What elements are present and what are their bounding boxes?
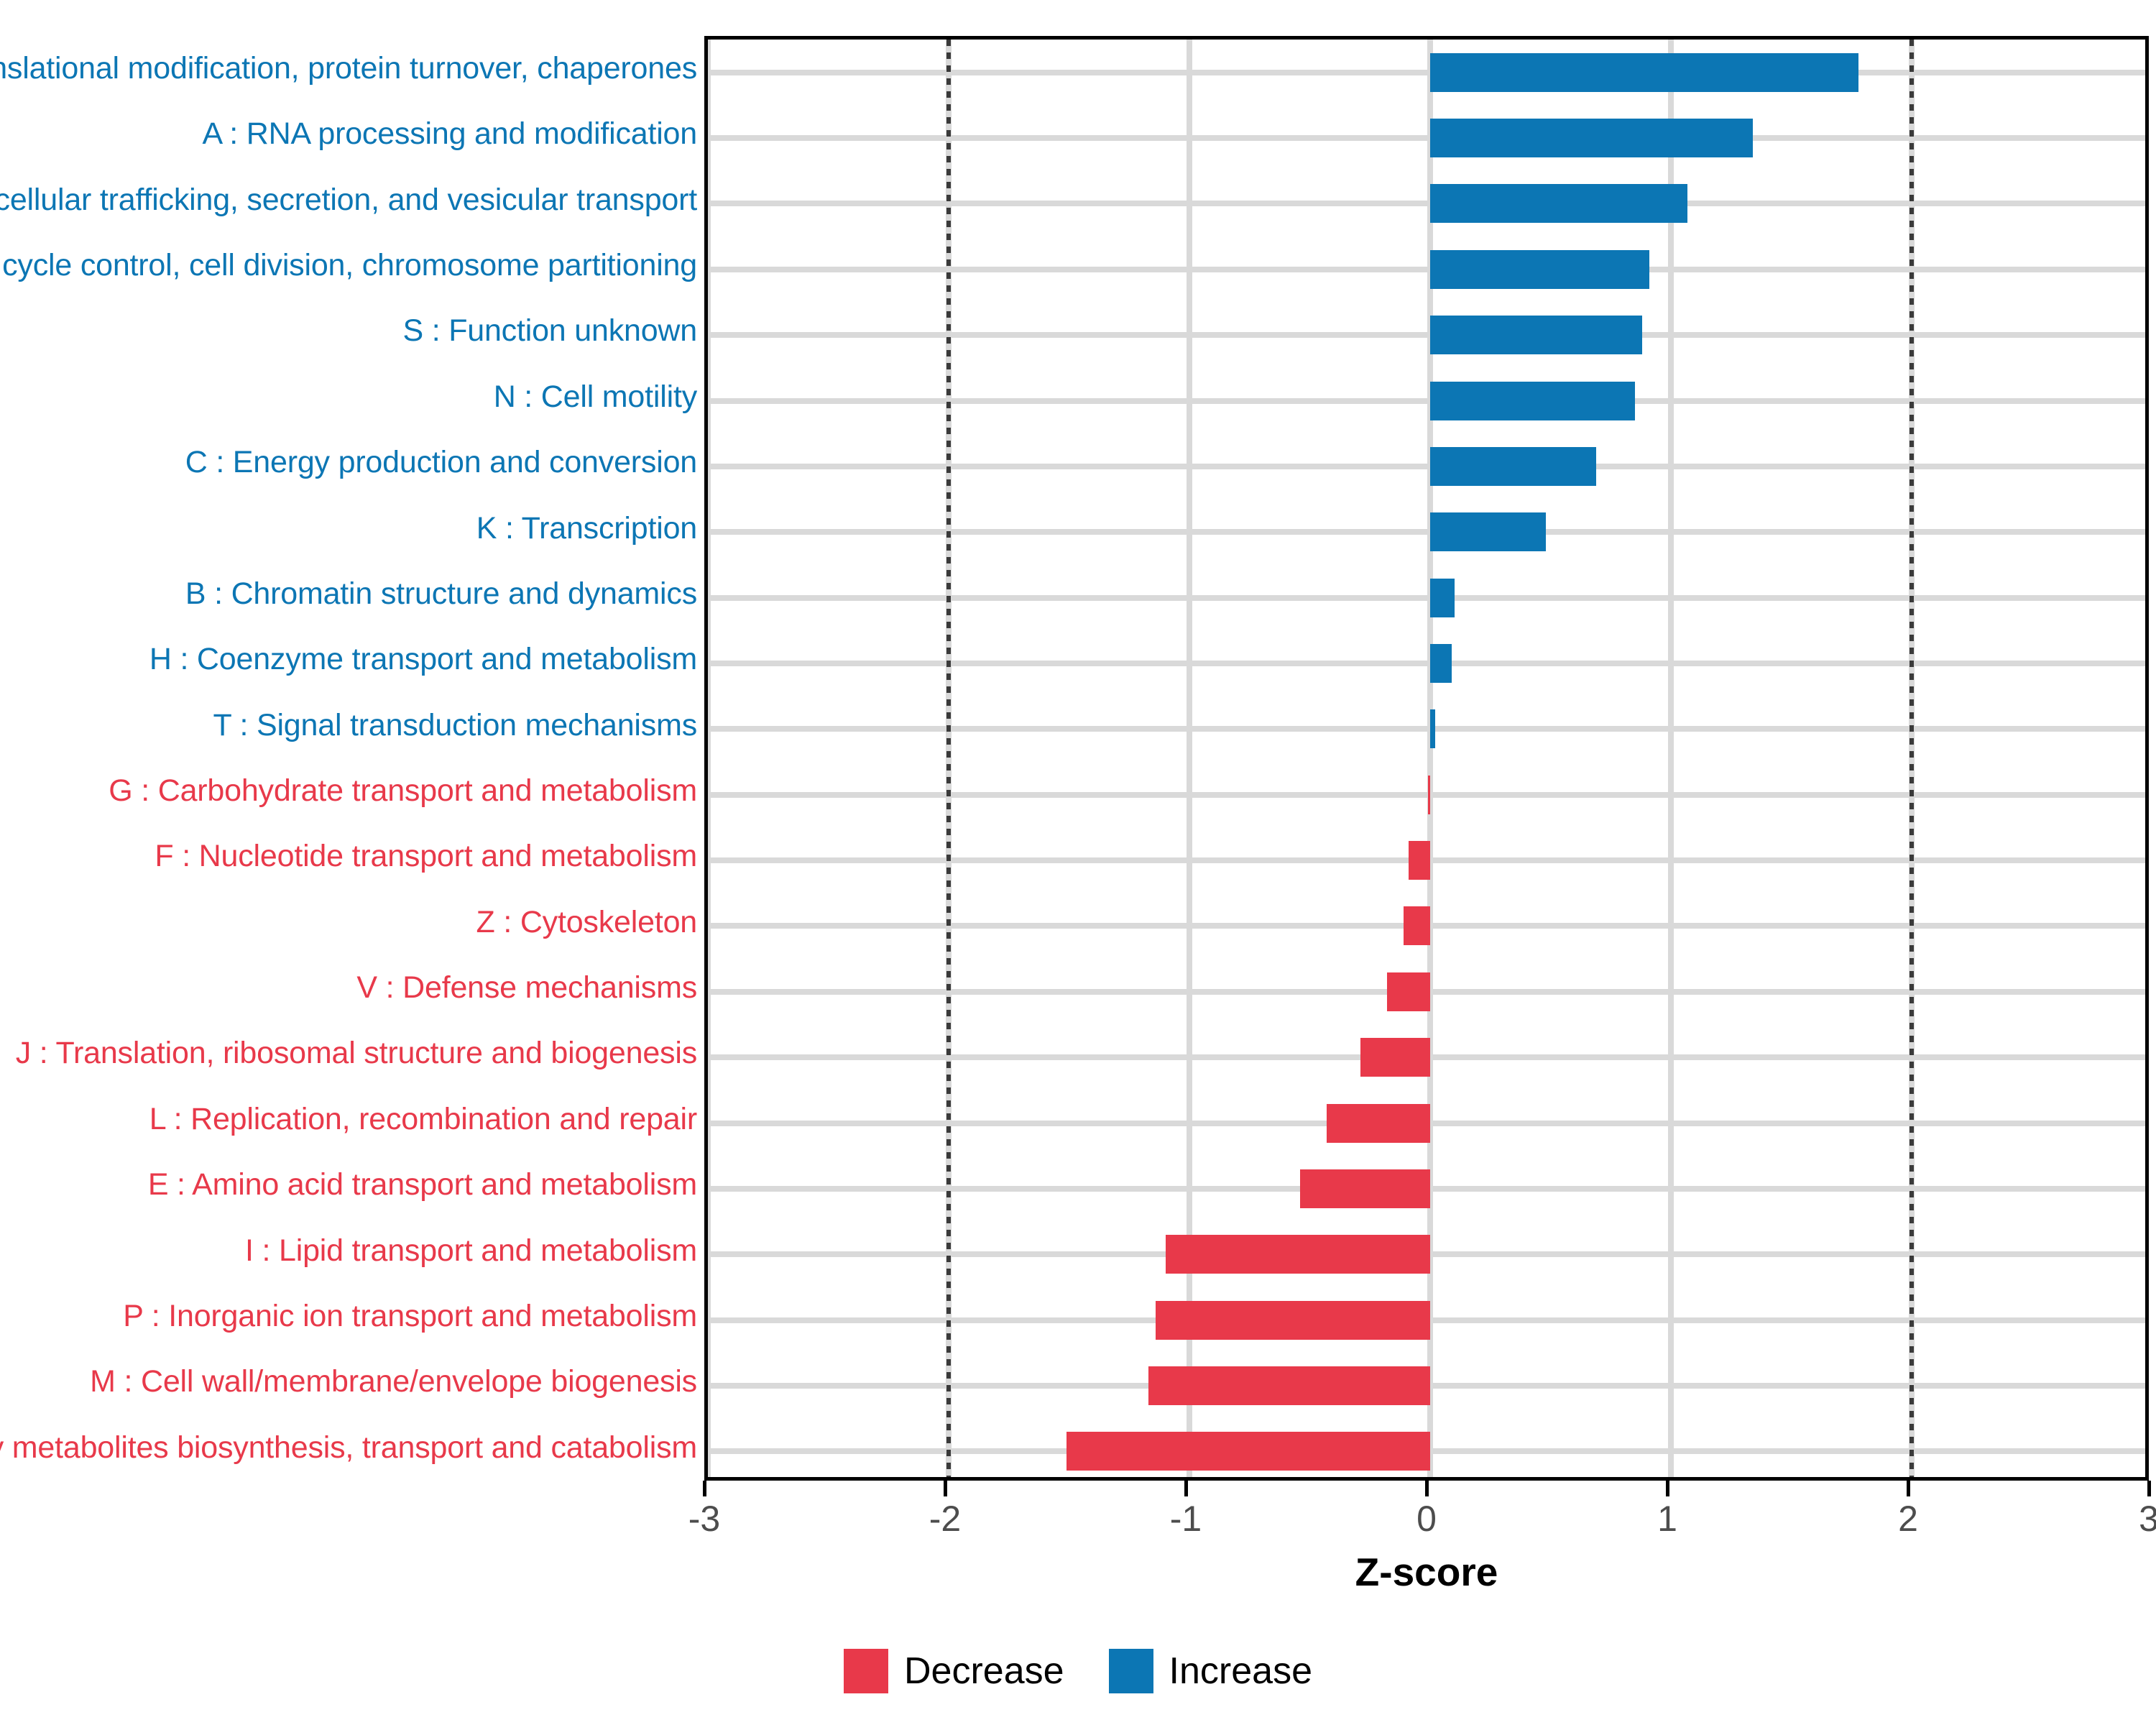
category-label: C : Energy production and conversion [185,430,697,495]
bar [1430,512,1546,551]
x-tick-mark [944,1481,947,1496]
bar [1430,119,1753,157]
bar [1430,579,1455,617]
x-tick-mark [2147,1481,2151,1496]
bar [1156,1301,1430,1340]
horizontal-gridline [708,726,2145,732]
category-label: N : Cell motility [494,364,697,430]
x-tick-label: 2 [1865,1498,1951,1540]
x-tick-label: 3 [2106,1498,2156,1540]
bar [1430,250,1649,289]
category-label-column: O : Posttranslational modification, prot… [0,36,703,1481]
category-label: O : Posttranslational modification, prot… [0,36,697,101]
category-label: G : Carbohydrate transport and metabolis… [109,758,697,824]
bar [1430,316,1642,354]
vertical-gridline [1668,40,1674,1477]
category-label: K : Transcription [476,496,697,561]
category-label: I : Lipid transport and metabolism [245,1218,697,1284]
category-label: J : Translation, ribosomal structure and… [16,1021,697,1086]
category-label: B : Chromatin structure and dynamics [185,561,697,627]
x-tick-mark [1907,1481,1910,1496]
category-label: P : Inorganic ion transport and metaboli… [123,1284,697,1349]
bar [1430,53,1858,92]
plot-panel [704,36,2149,1481]
x-tick-mark [1425,1481,1429,1496]
category-label: A : RNA processing and modification [202,101,697,167]
x-tick-label: -3 [661,1498,747,1540]
legend: DecreaseIncrease [0,1639,2156,1703]
category-label: V : Defense mechanisms [356,955,697,1021]
bar [1409,841,1430,880]
category-label: F : Nucleotide transport and metabolism [155,824,697,889]
cog-zscore-bar-chart: O : Posttranslational modification, prot… [0,0,2156,1725]
x-tick-label: -1 [1143,1498,1229,1540]
horizontal-gridline [708,267,2145,272]
threshold-line [946,40,951,1477]
x-tick-mark [1666,1481,1669,1496]
bar [1404,906,1430,945]
x-tick-label: 1 [1624,1498,1710,1540]
bar [1166,1235,1431,1274]
category-label: Q : Secondary metabolites biosynthesis, … [0,1415,697,1481]
bar [1387,972,1430,1011]
category-label: Z : Cytoskeleton [476,890,697,955]
x-tick-label: -2 [902,1498,988,1540]
legend-swatch [844,1649,888,1693]
bar [1327,1104,1430,1143]
category-label: E : Amino acid transport and metabolism [148,1152,697,1218]
bar [1360,1038,1430,1077]
plot-area [708,40,2145,1477]
category-label: D : Cell cycle control, cell division, c… [0,233,697,298]
horizontal-gridline [708,398,2145,404]
horizontal-gridline [708,70,2145,75]
category-label: T : Signal transduction mechanisms [213,693,697,758]
horizontal-gridline [708,464,2145,469]
category-label: S : Function unknown [402,298,697,364]
legend-item[interactable]: Increase [1109,1649,1312,1693]
bar [1300,1169,1430,1208]
bar [1067,1432,1430,1471]
horizontal-gridline [708,201,2145,206]
threshold-line [1909,40,1914,1477]
vertical-gridline [705,40,711,1477]
x-tick-mark [703,1481,706,1496]
bar [1430,382,1635,420]
bar [1430,644,1452,683]
x-tick-mark [1184,1481,1188,1496]
horizontal-gridline [708,792,2145,798]
category-label: H : Coenzyme transport and metabolism [149,627,697,692]
horizontal-gridline [708,529,2145,535]
category-label: L : Replication, recombination and repai… [149,1087,697,1152]
horizontal-gridline [708,595,2145,601]
bar [1430,447,1596,486]
legend-label: Decrease [904,1650,1064,1693]
bar [1430,709,1435,748]
x-tick-label: 0 [1383,1498,1470,1540]
category-label: M : Cell wall/membrane/envelope biogenes… [90,1349,697,1414]
bar [1428,776,1430,814]
legend-label: Increase [1169,1650,1312,1693]
category-label: U : Intracellular trafficking, secretion… [0,167,697,233]
legend-swatch [1109,1649,1153,1693]
horizontal-gridline [708,661,2145,666]
horizontal-gridline [708,135,2145,141]
bar [1430,184,1687,223]
legend-item[interactable]: Decrease [844,1649,1064,1693]
x-axis-title: Z-score [704,1549,2149,1595]
horizontal-gridline [708,332,2145,338]
bar [1148,1366,1430,1405]
